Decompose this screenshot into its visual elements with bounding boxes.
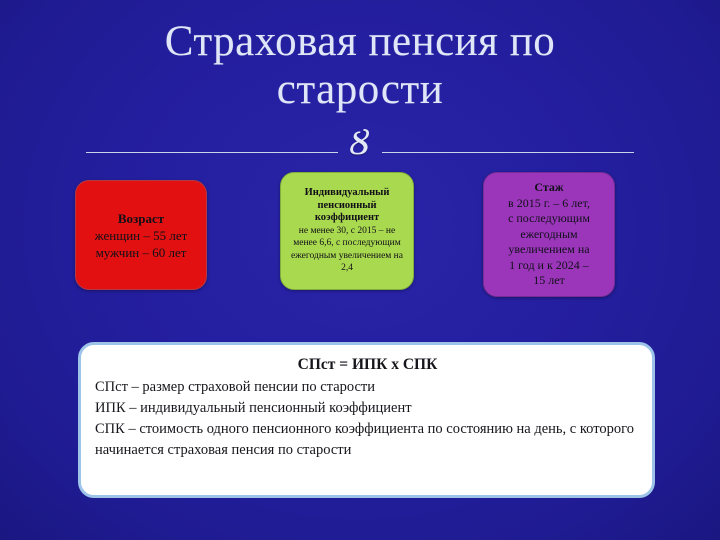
formula-equation: СПст = ИПК х СПК (95, 355, 640, 375)
criteria-box-ipk-body: не менее 30, с 2015 – не менее 6,6, с по… (287, 225, 407, 275)
criteria-box-ipk-content: Индивидуальный пенсионный коэффициент не… (287, 187, 407, 275)
divider-rule-left (86, 152, 338, 153)
divider-rule-right (382, 152, 634, 153)
title-divider: Ȣ (86, 128, 634, 162)
criteria-box-age-content: Возраст женщин – 55 лет мужчин – 60 лет (82, 210, 200, 261)
criteria-box-stazh-heading: Стаж (490, 180, 608, 196)
criteria-box-ipk-heading: Индивидуальный пенсионный коэффициент (287, 187, 407, 225)
criteria-box-age-heading: Возраст (82, 210, 200, 227)
formula-definition-line: СПК – стоимость одного пенсионного коэфф… (95, 419, 640, 461)
slide-title-block: Страховая пенсия по старости (60, 18, 660, 114)
formula-definition-line: ИПК – индивидуальный пенсионный коэффици… (95, 398, 640, 419)
criteria-box-stazh-content: Стаж в 2015 г. – 6 лет, с последующим еж… (490, 180, 608, 289)
flourish-ornament-icon: Ȣ (350, 126, 369, 160)
formula-definitions: СПст – размер страховой пенсии по старос… (95, 377, 640, 461)
criteria-box-stazh: Стаж в 2015 г. – 6 лет, с последующим еж… (483, 172, 615, 297)
criteria-box-age-body: женщин – 55 лет мужчин – 60 лет (82, 227, 200, 261)
page-title: Страховая пенсия по старости (60, 18, 660, 114)
criteria-box-stazh-body: в 2015 г. – 6 лет, с последующим ежегодн… (490, 196, 608, 289)
formula-panel: СПст = ИПК х СПК СПст – размер страховой… (78, 342, 655, 498)
criteria-box-ipk: Индивидуальный пенсионный коэффициент не… (280, 172, 414, 290)
criteria-box-age: Возраст женщин – 55 лет мужчин – 60 лет (75, 180, 207, 290)
slide-canvas: Страховая пенсия по старости Ȣ Возраст ж… (0, 0, 720, 540)
formula-definition-line: СПст – размер страховой пенсии по старос… (95, 377, 640, 398)
